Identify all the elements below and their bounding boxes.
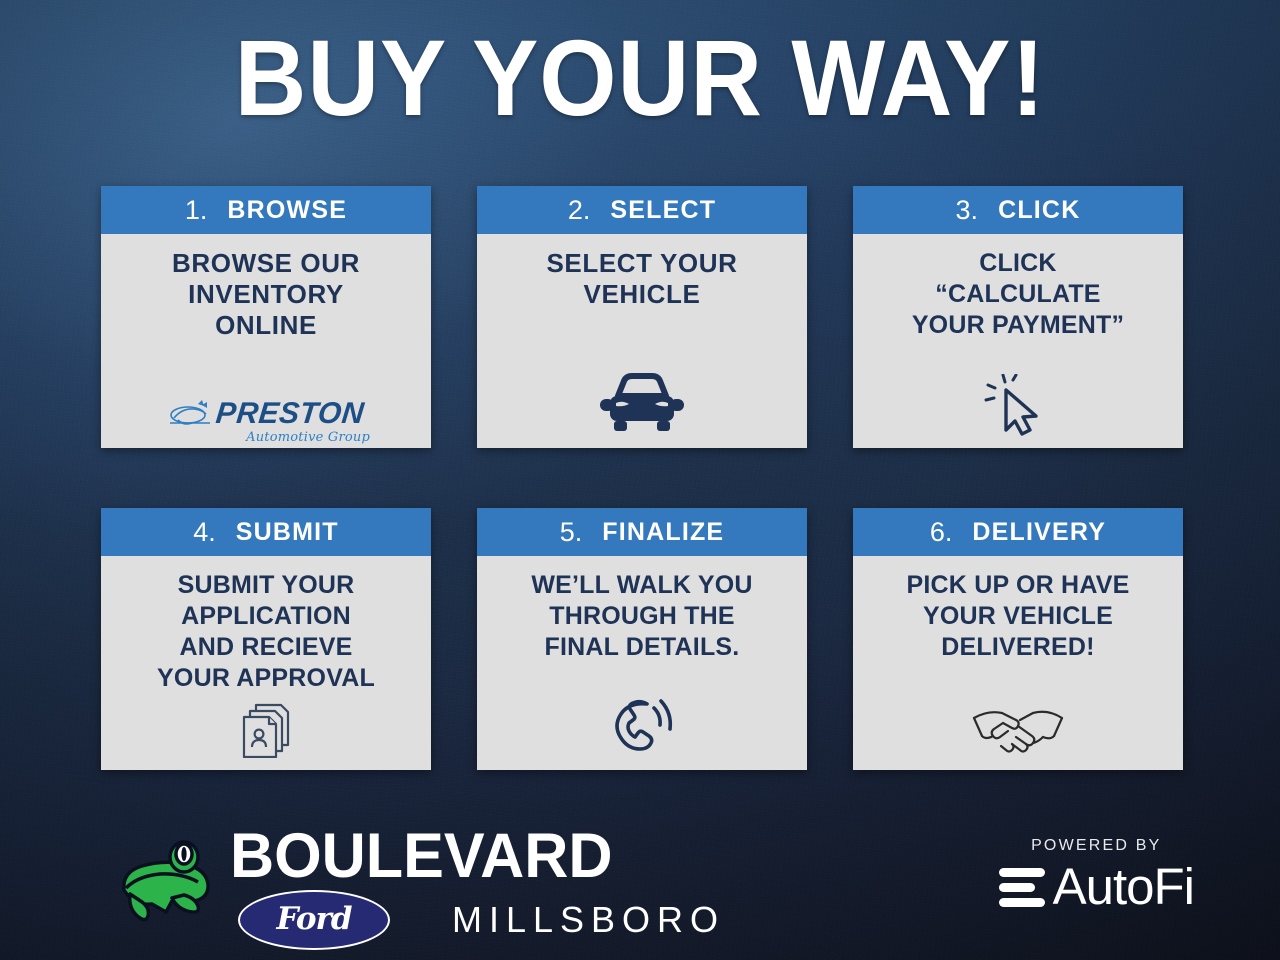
dealer-location: MILLSBORO <box>452 902 725 938</box>
green-frog-logo <box>112 832 220 933</box>
car-front-icon <box>596 370 688 436</box>
step-number: 3. <box>956 197 979 224</box>
handshake-icon <box>970 702 1066 758</box>
step-card-body: SELECT YOUR VEHICLE <box>477 234 807 448</box>
step-card-header: 4. SUBMIT <box>101 508 431 556</box>
step-card-submit[interactable]: 4. SUBMIT SUBMIT YOUR APPLICATION AND RE… <box>101 508 431 770</box>
autofi-bars-icon <box>999 866 1045 907</box>
step-card-click[interactable]: 3. CLICK CLICK “CALCULATE YOUR PAYMENT” <box>853 186 1183 448</box>
preston-wordmark: PRESTON <box>214 399 365 429</box>
step-card-header: 6. DELIVERY <box>853 508 1183 556</box>
step-card-finalize[interactable]: 5. FINALIZE WE’LL WALK YOU THROUGH THE F… <box>477 508 807 770</box>
powered-by-label: POWERED BY <box>1031 838 1161 854</box>
step-title: SELECT <box>610 198 716 223</box>
application-document-person-icon <box>236 700 296 758</box>
autofi-powered-by-lockup: POWERED BY AutoFi <box>999 838 1194 912</box>
step-number: 2. <box>568 197 591 224</box>
autofi-logo: AutoFi <box>999 861 1194 912</box>
preston-automotive-group-logo: PRESTON Automotive Group <box>168 398 364 430</box>
step-description: SELECT YOUR VEHICLE <box>546 248 737 310</box>
step-title: BROWSE <box>227 198 347 223</box>
step-description: SUBMIT YOUR APPLICATION AND RECIEVE YOUR… <box>157 570 375 694</box>
step-card-body: SUBMIT YOUR APPLICATION AND RECIEVE YOUR… <box>101 556 431 770</box>
step-card-header: 5. FINALIZE <box>477 508 807 556</box>
step-card-body: CLICK “CALCULATE YOUR PAYMENT” <box>853 234 1183 448</box>
step-card-header: 1. BROWSE <box>101 186 431 234</box>
step-number: 4. <box>193 519 216 546</box>
step-card-body: PICK UP OR HAVE YOUR VEHICLE DELIVERED! <box>853 556 1183 770</box>
autofi-wordmark: AutoFi <box>1053 861 1194 912</box>
step-number: 5. <box>560 519 583 546</box>
ford-wordmark: Ford <box>277 904 352 935</box>
step-title: DELIVERY <box>972 520 1106 545</box>
step-card-body: BROWSE OUR INVENTORY ONLINE PRESTON Auto… <box>101 234 431 448</box>
step-title: SUBMIT <box>236 520 339 545</box>
preston-frog-icon <box>168 398 212 430</box>
preston-tagline: Automotive Group <box>246 430 370 445</box>
step-card-browse[interactable]: 1. BROWSE BROWSE OUR INVENTORY ONLINE PR… <box>101 186 431 448</box>
page-title: BUY YOUR WAY! <box>51 22 1229 134</box>
steps-grid: 1. BROWSE BROWSE OUR INVENTORY ONLINE PR… <box>101 186 1185 770</box>
step-title: CLICK <box>998 198 1080 223</box>
ford-oval-logo: Ford <box>238 890 390 950</box>
ringing-phone-icon <box>607 694 677 758</box>
mouse-cursor-click-icon <box>982 374 1054 436</box>
step-card-header: 2. SELECT <box>477 186 807 234</box>
dealer-name: BOULEVARD <box>230 826 710 886</box>
dealer-brand-text: BOULEVARD Ford MILLSBORO <box>230 826 725 950</box>
step-number: 6. <box>930 519 953 546</box>
step-card-select[interactable]: 2. SELECT SELECT YOUR VEHICLE <box>477 186 807 448</box>
step-card-header: 3. CLICK <box>853 186 1183 234</box>
step-number: 1. <box>185 197 208 224</box>
infographic-canvas: BUY YOUR WAY! 1. BROWSE BROWSE OUR INVEN… <box>0 0 1280 960</box>
step-description: BROWSE OUR INVENTORY ONLINE <box>172 248 360 341</box>
step-description: CLICK “CALCULATE YOUR PAYMENT” <box>912 248 1124 341</box>
step-card-delivery[interactable]: 6. DELIVERY PICK UP OR HAVE YOUR VEHICLE… <box>853 508 1183 770</box>
step-card-body: WE’LL WALK YOU THROUGH THE FINAL DETAILS… <box>477 556 807 770</box>
footer: BOULEVARD Ford MILLSBORO POWERED BY Auto… <box>0 810 1280 960</box>
step-description: PICK UP OR HAVE YOUR VEHICLE DELIVERED! <box>907 570 1130 663</box>
dealer-brand-lockup: BOULEVARD Ford MILLSBORO <box>112 826 725 950</box>
step-title: FINALIZE <box>602 520 724 545</box>
step-description: WE’LL WALK YOU THROUGH THE FINAL DETAILS… <box>531 570 752 663</box>
ford-and-location-row: Ford MILLSBORO <box>230 890 725 950</box>
